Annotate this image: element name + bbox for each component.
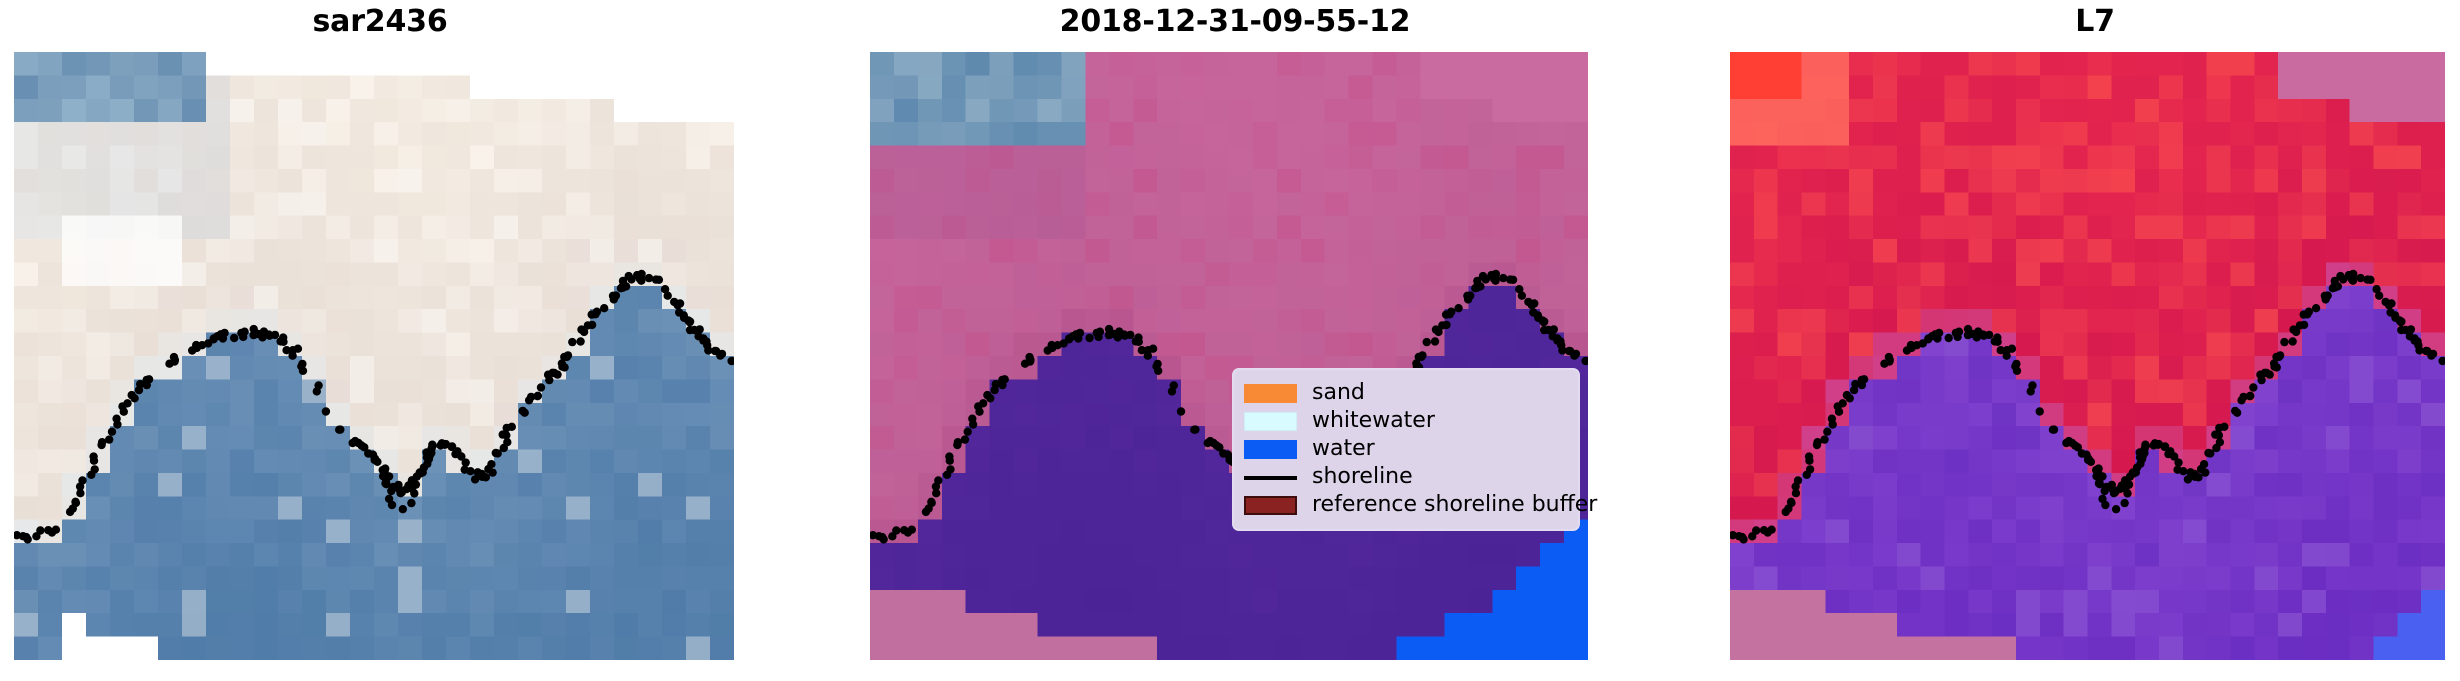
shoreline-overlay-0	[14, 52, 734, 660]
legend-label-reference-shoreline-buffer: reference shoreline buffer	[1312, 494, 1597, 516]
satellite-image-0[interactable]	[14, 52, 734, 660]
figure-canvas: sar2436 2018-12-31-09-55-12 L7	[0, 0, 2460, 681]
panel-2018-12-31-09-55-12: 2018-12-31-09-55-12	[855, 0, 1615, 681]
legend-item-whitewater: whitewater	[1244, 407, 1568, 435]
legend-item-water: water	[1244, 435, 1568, 463]
satellite-image-1[interactable]	[870, 52, 1588, 660]
panel-sar2436: sar2436	[0, 0, 760, 681]
panel-title-0: sar2436	[0, 4, 760, 39]
legend-swatch-reference-shoreline-buffer	[1244, 496, 1297, 515]
shoreline-overlay-1	[870, 52, 1588, 660]
legend-swatch-shoreline	[1244, 468, 1297, 487]
legend-item-shoreline: shoreline	[1244, 463, 1568, 491]
legend-swatch-sand	[1244, 384, 1297, 403]
panel-l7: L7	[1715, 0, 2460, 681]
legend-label-sand: sand	[1312, 382, 1365, 404]
legend-item-sand: sand	[1244, 379, 1568, 407]
panel-title-1: 2018-12-31-09-55-12	[855, 4, 1615, 39]
shoreline-overlay-2	[1730, 52, 2445, 660]
panel-title-2: L7	[1715, 4, 2460, 39]
legend-label-whitewater: whitewater	[1312, 410, 1435, 432]
satellite-image-2[interactable]	[1730, 52, 2445, 660]
legend-label-shoreline: shoreline	[1312, 466, 1413, 488]
legend-swatch-water	[1244, 440, 1297, 459]
legend-swatch-whitewater	[1244, 412, 1297, 431]
legend-label-water: water	[1312, 438, 1375, 460]
legend-item-reference-shoreline-buffer: reference shoreline buffer	[1244, 491, 1568, 519]
legend-box: sand whitewater water shoreline referenc…	[1232, 368, 1580, 531]
